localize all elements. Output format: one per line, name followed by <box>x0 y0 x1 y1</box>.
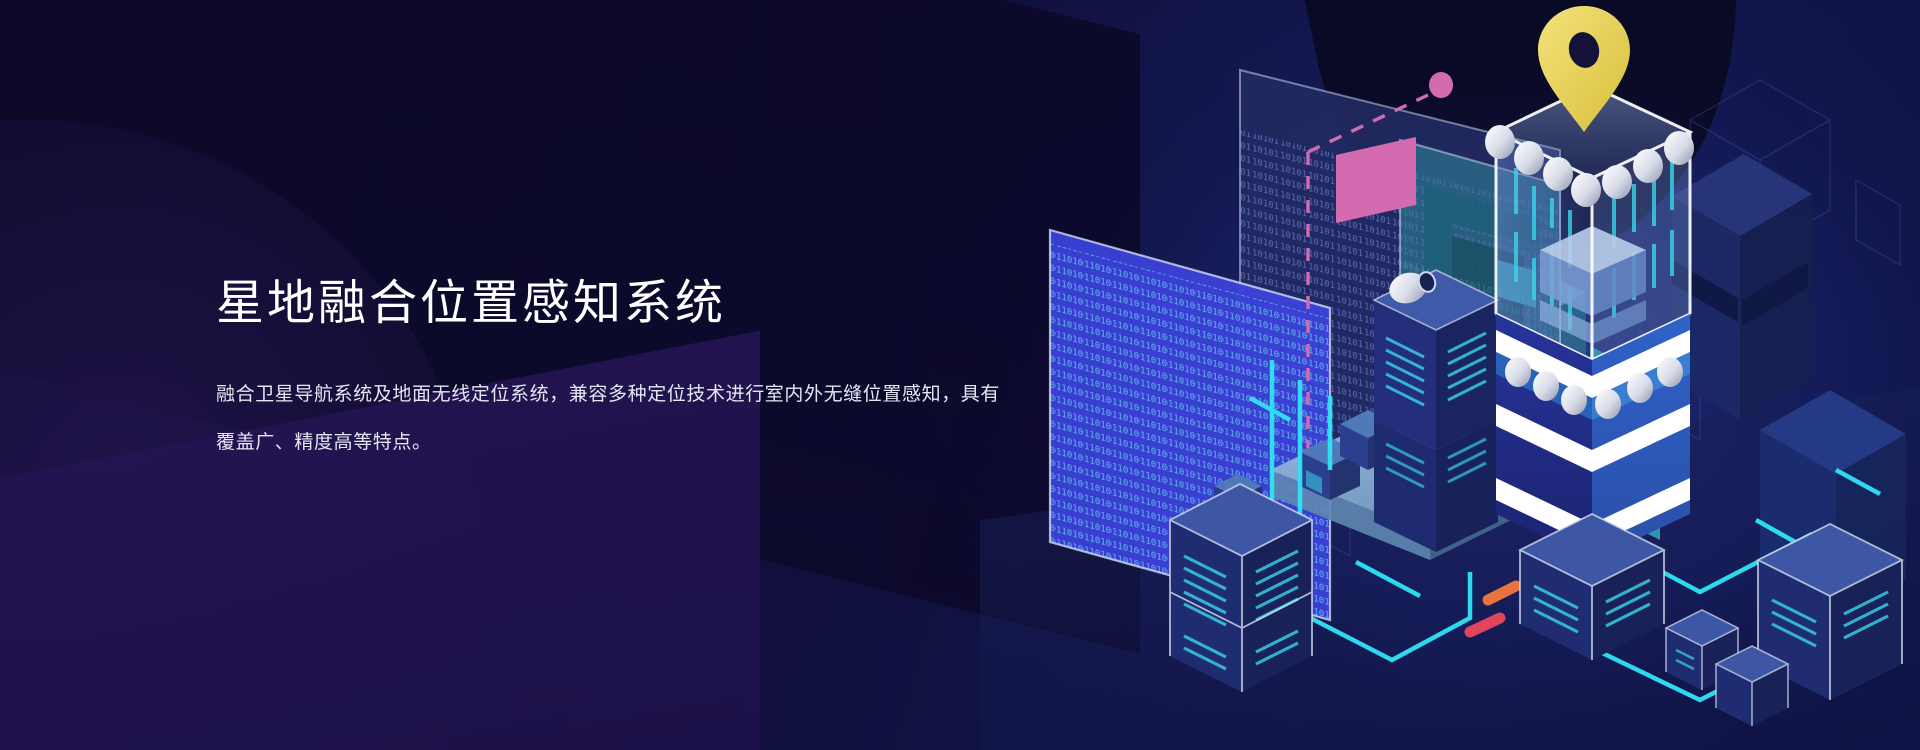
glass-cube-tower <box>1485 86 1694 360</box>
page-title: 星地融合位置感知系统 <box>216 276 1036 333</box>
hero-illustration: 101011 110100 <box>1000 0 1920 750</box>
hero-text-block: 星地融合位置感知系统 融合卫星导航系统及地面无线定位系统，兼容多种定位技术进行室… <box>216 276 1036 467</box>
satellite-dish-rack <box>1374 268 1498 552</box>
page-subtitle: 融合卫星导航系统及地面无线定位系统，兼容多种定位技术进行室内外无缝位置感知，具有… <box>216 371 1016 467</box>
hero-banner: 星地融合位置感知系统 融合卫星导航系统及地面无线定位系统，兼容多种定位技术进行室… <box>0 0 1920 750</box>
pink-path-endpoint-dot <box>1429 72 1453 98</box>
server-rack-left <box>1170 484 1312 692</box>
